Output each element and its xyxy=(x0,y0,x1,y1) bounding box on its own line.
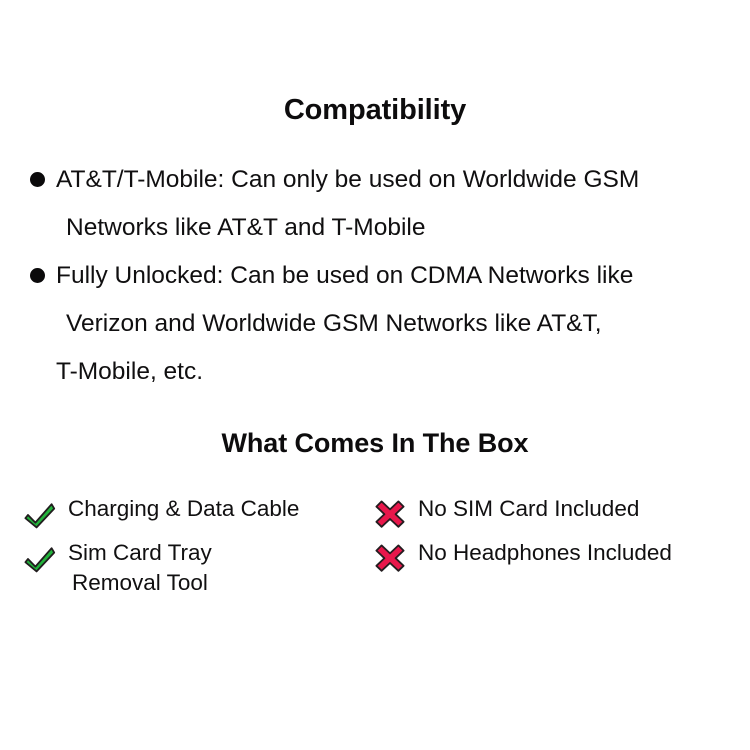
list-item: Sim Card Tray Removal Tool xyxy=(24,538,374,598)
bullet-line: Fully Unlocked: Can be used on CDMA Netw… xyxy=(0,254,750,302)
included-items-column: Charging & Data Cable Sim Card Tray Remo… xyxy=(24,494,374,598)
list-item-label-continuation: Removal Tool xyxy=(68,568,374,598)
red-cross-icon xyxy=(374,499,406,529)
green-check-icon xyxy=(24,499,56,529)
whats-in-box-heading: What Comes In The Box xyxy=(0,428,750,459)
bullet-line: AT&T/T-Mobile: Can only be used on World… xyxy=(0,158,750,206)
green-check-icon xyxy=(24,543,56,573)
bullet-line: T-Mobile, etc. xyxy=(0,350,750,398)
list-item-label: No SIM Card Included xyxy=(418,494,734,524)
list-item-label: Charging & Data Cable xyxy=(68,494,374,524)
excluded-items-column: No SIM Card Included No Headphones Inclu… xyxy=(374,494,734,582)
bullet-text-line: T-Mobile, etc. xyxy=(56,350,203,394)
bullet-text-line: Verizon and Worldwide GSM Networks like … xyxy=(66,302,602,346)
list-item-label: No Headphones Included xyxy=(418,538,734,568)
list-item: Charging & Data Cable xyxy=(24,494,374,538)
bullet-line: Networks like AT&T and T-Mobile xyxy=(0,206,750,254)
compatibility-heading: Compatibility xyxy=(0,94,750,126)
bullet-item: AT&T/T-Mobile: Can only be used on World… xyxy=(0,158,750,254)
box-contents-list: Charging & Data Cable Sim Card Tray Remo… xyxy=(0,494,750,624)
list-item: No Headphones Included xyxy=(374,538,734,582)
list-item: No SIM Card Included xyxy=(374,494,734,538)
bullet-line: Verizon and Worldwide GSM Networks like … xyxy=(0,302,750,350)
bullet-dot-icon xyxy=(30,172,45,187)
bullet-text-line: Fully Unlocked: Can be used on CDMA Netw… xyxy=(56,254,633,298)
bullet-item: Fully Unlocked: Can be used on CDMA Netw… xyxy=(0,254,750,398)
red-cross-icon xyxy=(374,543,406,573)
bullet-text-line: Networks like AT&T and T-Mobile xyxy=(66,206,425,250)
compatibility-bullet-list: AT&T/T-Mobile: Can only be used on World… xyxy=(0,158,750,398)
infographic-page: Compatibility AT&T/T-Mobile: Can only be… xyxy=(0,0,750,750)
bullet-text-line: AT&T/T-Mobile: Can only be used on World… xyxy=(56,158,639,202)
bullet-dot-icon xyxy=(30,268,45,283)
list-item-label: Sim Card Tray xyxy=(68,538,374,568)
